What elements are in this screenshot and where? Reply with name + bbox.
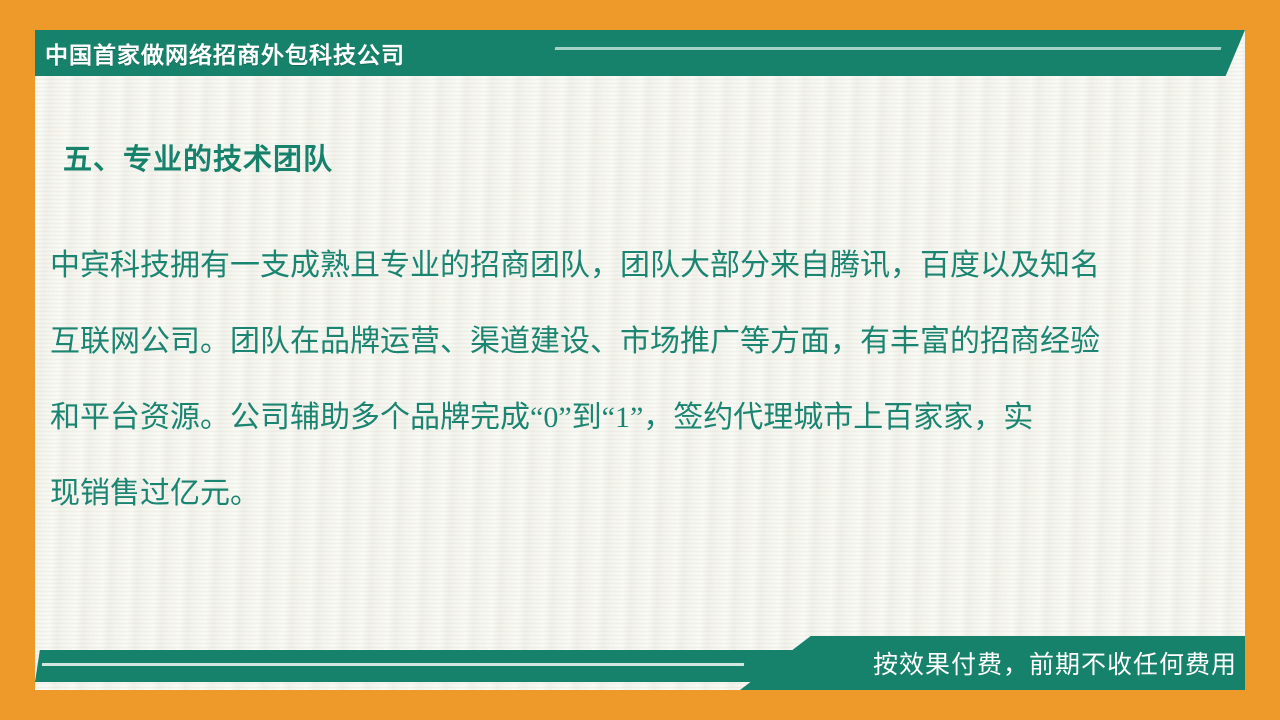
- body-paragraph: 中宾科技拥有一支成熟且专业的招商团队，团队大部分来自腾讯，百度以及知名 互联网公…: [50, 228, 1185, 532]
- paragraph-line: 现销售过亿元。: [50, 456, 1185, 532]
- header-banner-hairline: [555, 47, 1221, 50]
- slide-canvas: 中国首家做网络招商外包科技公司 五、专业的技术团队 中宾科技拥有一支成熟且专业的…: [0, 0, 1280, 720]
- paragraph-line: 和平台资源。公司辅助多个品牌完成“0”到“1”，签约代理城市上百家家，实: [50, 380, 1185, 456]
- footer-tagline: 按效果付费，前期不收任何费用: [35, 636, 1237, 690]
- header-title: 中国首家做网络招商外包科技公司: [45, 30, 405, 76]
- paragraph-line: 互联网公司。团队在品牌运营、渠道建设、市场推广等方面，有丰富的招商经验: [50, 304, 1185, 380]
- paragraph-line: 中宾科技拥有一支成熟且专业的招商团队，团队大部分来自腾讯，百度以及知名: [50, 228, 1185, 304]
- section-heading: 五、专业的技术团队: [63, 136, 333, 178]
